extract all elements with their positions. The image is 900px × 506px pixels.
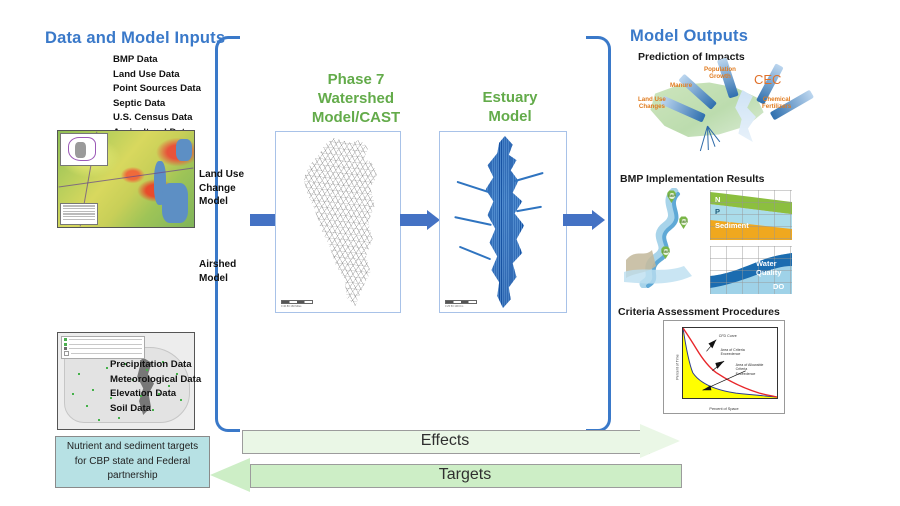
water-body (176, 139, 192, 161)
effects-label: Effects (242, 432, 648, 450)
list-item: Elevation Data (110, 387, 201, 402)
prediction-of-impacts-graphic: Land Use Changes Manure Population Growt… (636, 62, 836, 160)
map-scalebar: 0 40 80 160 Miles (281, 300, 313, 308)
arrow-watershed-to-estuary (400, 210, 440, 230)
list-item: Meteorological Data (110, 373, 201, 388)
outputs-section-title: Model Outputs (630, 27, 748, 46)
label-line: Fertilizers (762, 103, 791, 110)
monitoring-station (98, 419, 100, 421)
impact-label-cec: CEC (754, 72, 781, 87)
estuary-grid-map (455, 136, 551, 308)
inputs-bracket (215, 36, 240, 432)
title-line: Model/CAST (296, 108, 416, 127)
annotation-cfd-curve: CFD Curve (719, 334, 737, 338)
label-line: Model (199, 195, 244, 209)
label-line: Population (704, 66, 736, 73)
title-line: Phase 7 (296, 70, 416, 89)
list-item: Precipitation Data (110, 358, 201, 373)
input-data-list-top: BMP Data Land Use Data Point Sources Dat… (113, 53, 201, 140)
bmp-results-title: BMP Implementation Results (620, 173, 765, 185)
monitoring-station (92, 389, 94, 391)
watershed-segments-map (284, 138, 392, 306)
map-scalebar: 0 25 50 100 Km (445, 300, 477, 308)
label-line: Model (199, 272, 236, 286)
label-line: Changes (638, 103, 666, 110)
bmp-loads-chart: N P Sediment (710, 190, 792, 240)
legend-row (64, 343, 142, 346)
monitoring-station (72, 393, 74, 395)
series-label-sediment: Sediment (715, 221, 749, 230)
targets-arrow: Targets (210, 458, 680, 492)
list-item: U.S. Census Data (113, 111, 201, 126)
title-line: Estuary (455, 88, 565, 107)
label-line: Growth (704, 73, 736, 80)
label-line: Land Use (199, 168, 244, 182)
monitoring-station (86, 405, 88, 407)
legend-swatch (64, 338, 67, 341)
title-line: Model (455, 107, 565, 126)
criteria-assessment-title: Criteria Assessment Procedures (618, 306, 780, 318)
legend-row (64, 351, 142, 356)
tributary (516, 206, 542, 212)
cfd-y-axis-label: Percent of Time (676, 354, 680, 379)
estuary-model-panel: 0 25 50 100 Km (439, 131, 567, 313)
label-line: Change (199, 182, 244, 196)
series-label-do: DO (773, 282, 784, 291)
inset-highlight (75, 142, 86, 158)
effects-arrow: Effects (242, 424, 680, 458)
water-body (162, 183, 188, 223)
cfd-plot-area: 100 90 80 70 60 50 40 30 20 10 0 0 10 20… (682, 327, 778, 399)
impact-label-population-growth: Population Growth (704, 66, 736, 81)
title-line: Watershed (296, 89, 416, 108)
monitoring-station (118, 417, 120, 419)
impact-label-land-use-changes: Land Use Changes (638, 96, 666, 111)
watershed-model-panel: 0 40 80 160 Miles (275, 131, 401, 313)
legend-swatch (64, 343, 67, 346)
map-inset (60, 133, 108, 166)
list-item: BMP Data (113, 53, 201, 68)
annotation-line: Exceedence (736, 372, 764, 376)
legend-swatch (64, 347, 67, 350)
outputs-bracket (586, 36, 611, 432)
label-line: Land Use (638, 96, 666, 103)
input-data-list-bottom: Precipitation Data Meteorological Data E… (110, 358, 201, 416)
targets-summary-box: Nutrient and sediment targets for CBP st… (55, 436, 210, 488)
legend-text (69, 344, 142, 345)
cfd-chart: Percent of Time Percent of Space 100 90 … (663, 320, 785, 414)
label-line: Chemical (762, 96, 791, 103)
map-legend (60, 203, 98, 225)
list-item: Septic Data (113, 97, 201, 112)
annotation-area-of-criteria-exceedence: Area of Criteria Exceedence (721, 348, 745, 357)
legend-row (64, 347, 142, 350)
series-label-p: P (715, 207, 720, 216)
bmp-river-graphic: BMP BMP BMP (622, 188, 712, 288)
legend-row (64, 338, 142, 341)
airshed-model-label: Airshed Model (199, 258, 236, 285)
annotation-line: CFD Curve (719, 334, 737, 338)
land-use-map-thumbnail (57, 130, 195, 228)
impact-label-manure: Manure (670, 82, 692, 89)
legend-swatch (64, 351, 69, 356)
targets-label: Targets (250, 466, 680, 484)
annotation-area-of-allowable-criteria-exceedence: Area of Allowable Criteria Exceedence (736, 363, 764, 376)
series-label-water-quality: Water Quality (756, 260, 790, 277)
airshed-legend (61, 336, 145, 359)
list-item: Point Sources Data (113, 82, 201, 97)
legend-text (71, 353, 142, 354)
bmp-water-quality-chart: Water Quality DO (710, 246, 792, 294)
series-label-n: N (715, 195, 720, 204)
tributary (459, 246, 491, 261)
label-line: Airshed (199, 258, 236, 272)
inputs-section-title: Data and Model Inputs (45, 29, 225, 48)
legend-text (69, 348, 142, 349)
tributary (454, 216, 492, 226)
impact-label-chemical-fertilizers: Chemical Fertilizers (762, 96, 791, 111)
monitoring-station (106, 367, 108, 369)
tributary (457, 181, 490, 193)
chart-gridlines (710, 190, 792, 240)
tributary (514, 172, 543, 182)
monitoring-station (78, 373, 80, 375)
legend-text (69, 339, 142, 340)
list-item: Soil Data (110, 402, 201, 417)
watershed-model-title: Phase 7 Watershed Model/CAST (296, 70, 416, 128)
river-icon (622, 188, 712, 288)
estuary-model-title: Estuary Model (455, 88, 565, 126)
cfd-x-axis-label: Percent of Space (664, 407, 784, 411)
list-item: Land Use Data (113, 68, 201, 83)
label-line: Manure (670, 82, 692, 89)
land-use-change-model-label: Land Use Change Model (199, 168, 244, 209)
annotation-line: Exceedence (721, 352, 745, 356)
